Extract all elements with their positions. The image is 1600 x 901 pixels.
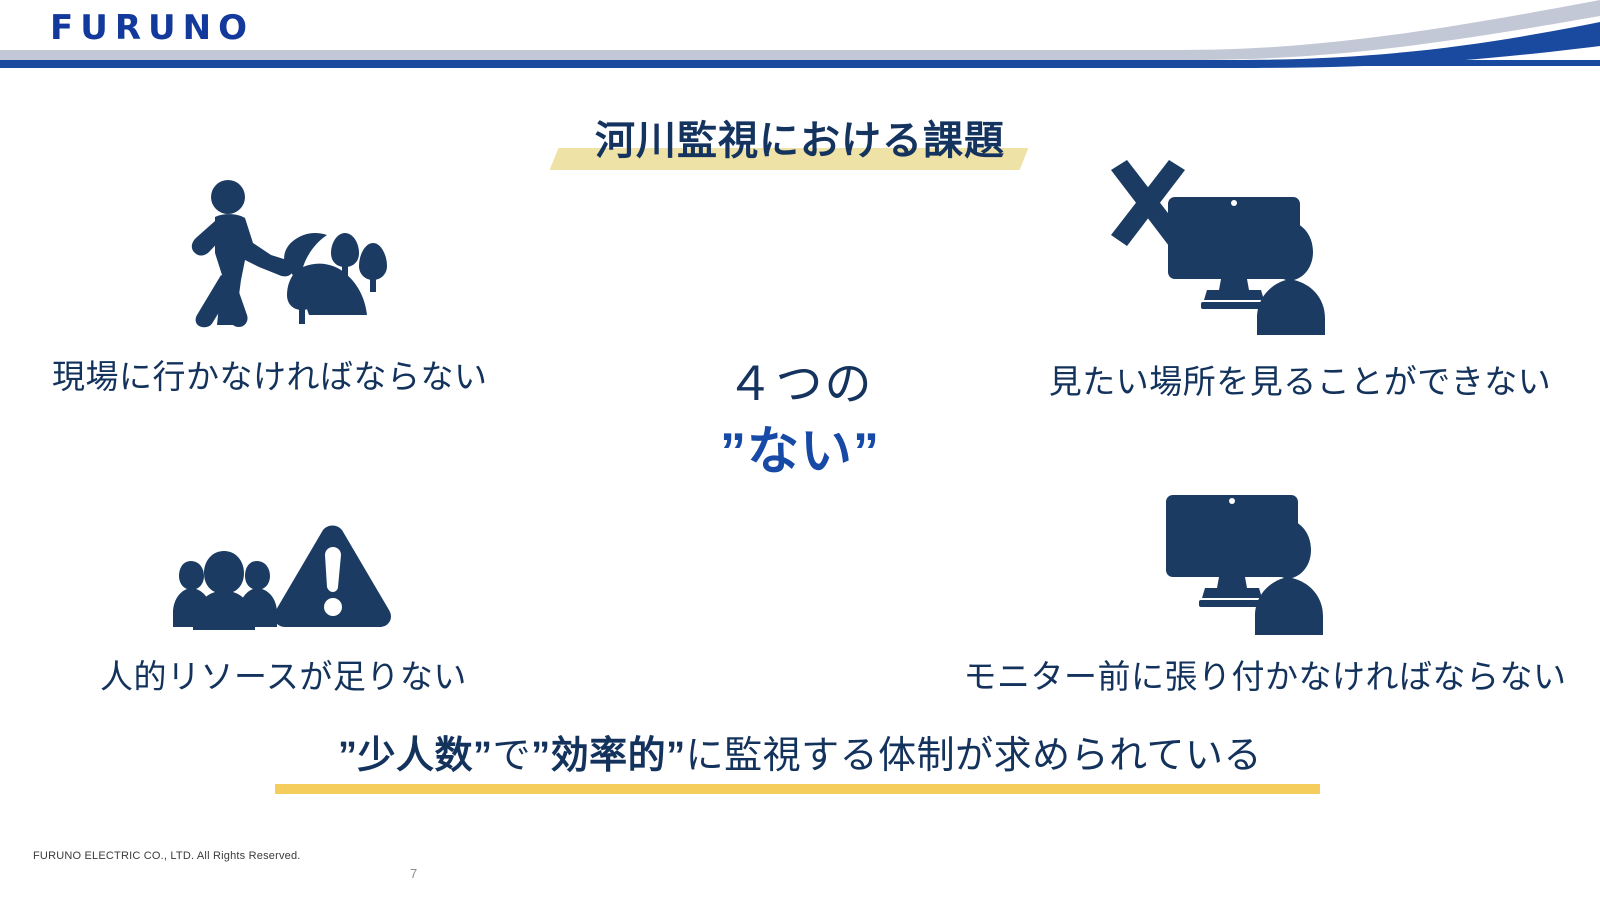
summary-text: ”少人数”で”効率的”に監視する体制が求められている	[0, 728, 1600, 784]
furuno-logo: FURUNO	[50, 8, 254, 48]
center-headline-line1: ４つの	[600, 355, 1000, 413]
issue-item-bottom-right: モニター前に張り付かなければならない	[930, 480, 1600, 695]
center-headline: ４つの ”ない”	[600, 355, 1000, 485]
person-walking-riverside-icon	[175, 175, 405, 330]
center-headline-line2: ”ない”	[600, 419, 1000, 485]
summary-emphasis-2: ”効率的”	[531, 735, 686, 777]
summary-plain-1: で	[493, 735, 532, 777]
people-warning-icon	[165, 525, 395, 630]
issue-item-top-right: 見たい場所を見ることができない	[1000, 160, 1600, 390]
monitor-person-watching-icon	[1125, 485, 1340, 635]
issue-caption-top-left: 現場に行かなければならない	[52, 350, 488, 398]
slide-header: FURUNO	[0, 0, 1600, 68]
issue-item-bottom-left: 人的リソースが足りない	[0, 495, 560, 705]
summary-emphasis-1: ”少人数”	[338, 735, 493, 777]
issue-caption-bottom-right: モニター前に張り付かなければならない	[930, 650, 1600, 698]
issue-caption-top-right: 見たい場所を見ることができない	[1000, 355, 1600, 403]
slide-canvas: FURUNO 河川監視における課題 ４つの ”ない”	[0, 0, 1600, 901]
title-text: 河川監視における課題	[500, 108, 1100, 166]
issue-item-top-left: 現場に行かなければならない	[0, 175, 560, 390]
footer-page-number: 7	[410, 866, 417, 881]
summary-plain-2: に監視する体制が求められている	[686, 735, 1262, 777]
summary-statement: ”少人数”で”効率的”に監視する体制が求められている	[0, 728, 1600, 808]
footer-copyright: FURUNO ELECTRIC CO., LTD. All Rights Res…	[33, 850, 301, 862]
issue-caption-bottom-left: 人的リソースが足りない	[100, 650, 467, 698]
monitor-person-blocked-icon	[1075, 160, 1325, 335]
summary-underline-bar	[275, 784, 1320, 794]
